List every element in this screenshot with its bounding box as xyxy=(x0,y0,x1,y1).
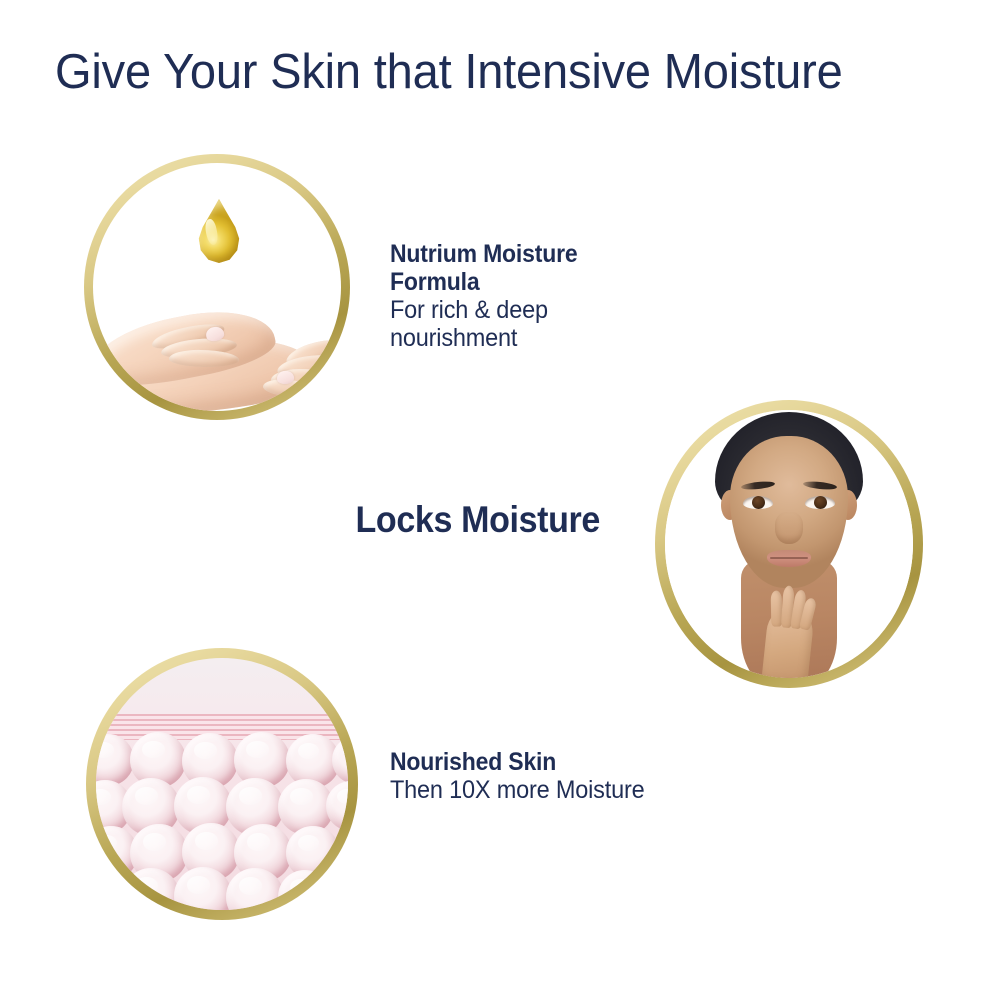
skin-cell xyxy=(326,781,348,831)
skin-cells-grid xyxy=(96,738,348,910)
woman-portrait xyxy=(665,410,913,678)
feature-image-locks-moisture xyxy=(655,400,923,688)
gold-ring-inner xyxy=(93,163,341,411)
feature-text-nourished-skin: Nourished Skin Then 10X more Moisture xyxy=(390,748,680,804)
iris xyxy=(752,496,765,509)
page-title: Give Your Skin that Intensive Moisture xyxy=(55,48,919,97)
feature-text-locks-moisture: Locks Moisture xyxy=(324,500,600,541)
lips xyxy=(767,550,811,567)
feature-subtitle: Then 10X more Moisture xyxy=(390,776,663,804)
eye-left xyxy=(743,496,773,509)
feature-image-nutrium-moisture-formula xyxy=(84,154,350,420)
skin-cell xyxy=(96,734,134,786)
feature-image-nourished-skin xyxy=(86,648,358,920)
oil-drop-icon xyxy=(195,199,243,263)
feature-subtitle: For rich & deep nourishment xyxy=(390,296,663,352)
eye-right xyxy=(805,496,835,509)
gold-ring-inner xyxy=(665,410,913,678)
gold-ring-inner xyxy=(96,658,348,910)
iris xyxy=(814,496,827,509)
hands-illustration xyxy=(93,285,341,411)
nose xyxy=(775,512,803,544)
upper-hand-fingers xyxy=(151,325,281,371)
finger xyxy=(169,349,239,367)
feature-text-nutrium-moisture-formula: Nutrium Moisture Formula For rich & deep… xyxy=(390,240,680,352)
feature-title: Nutrium Moisture Formula xyxy=(390,240,657,296)
feature-title: Nourished Skin xyxy=(390,748,657,776)
